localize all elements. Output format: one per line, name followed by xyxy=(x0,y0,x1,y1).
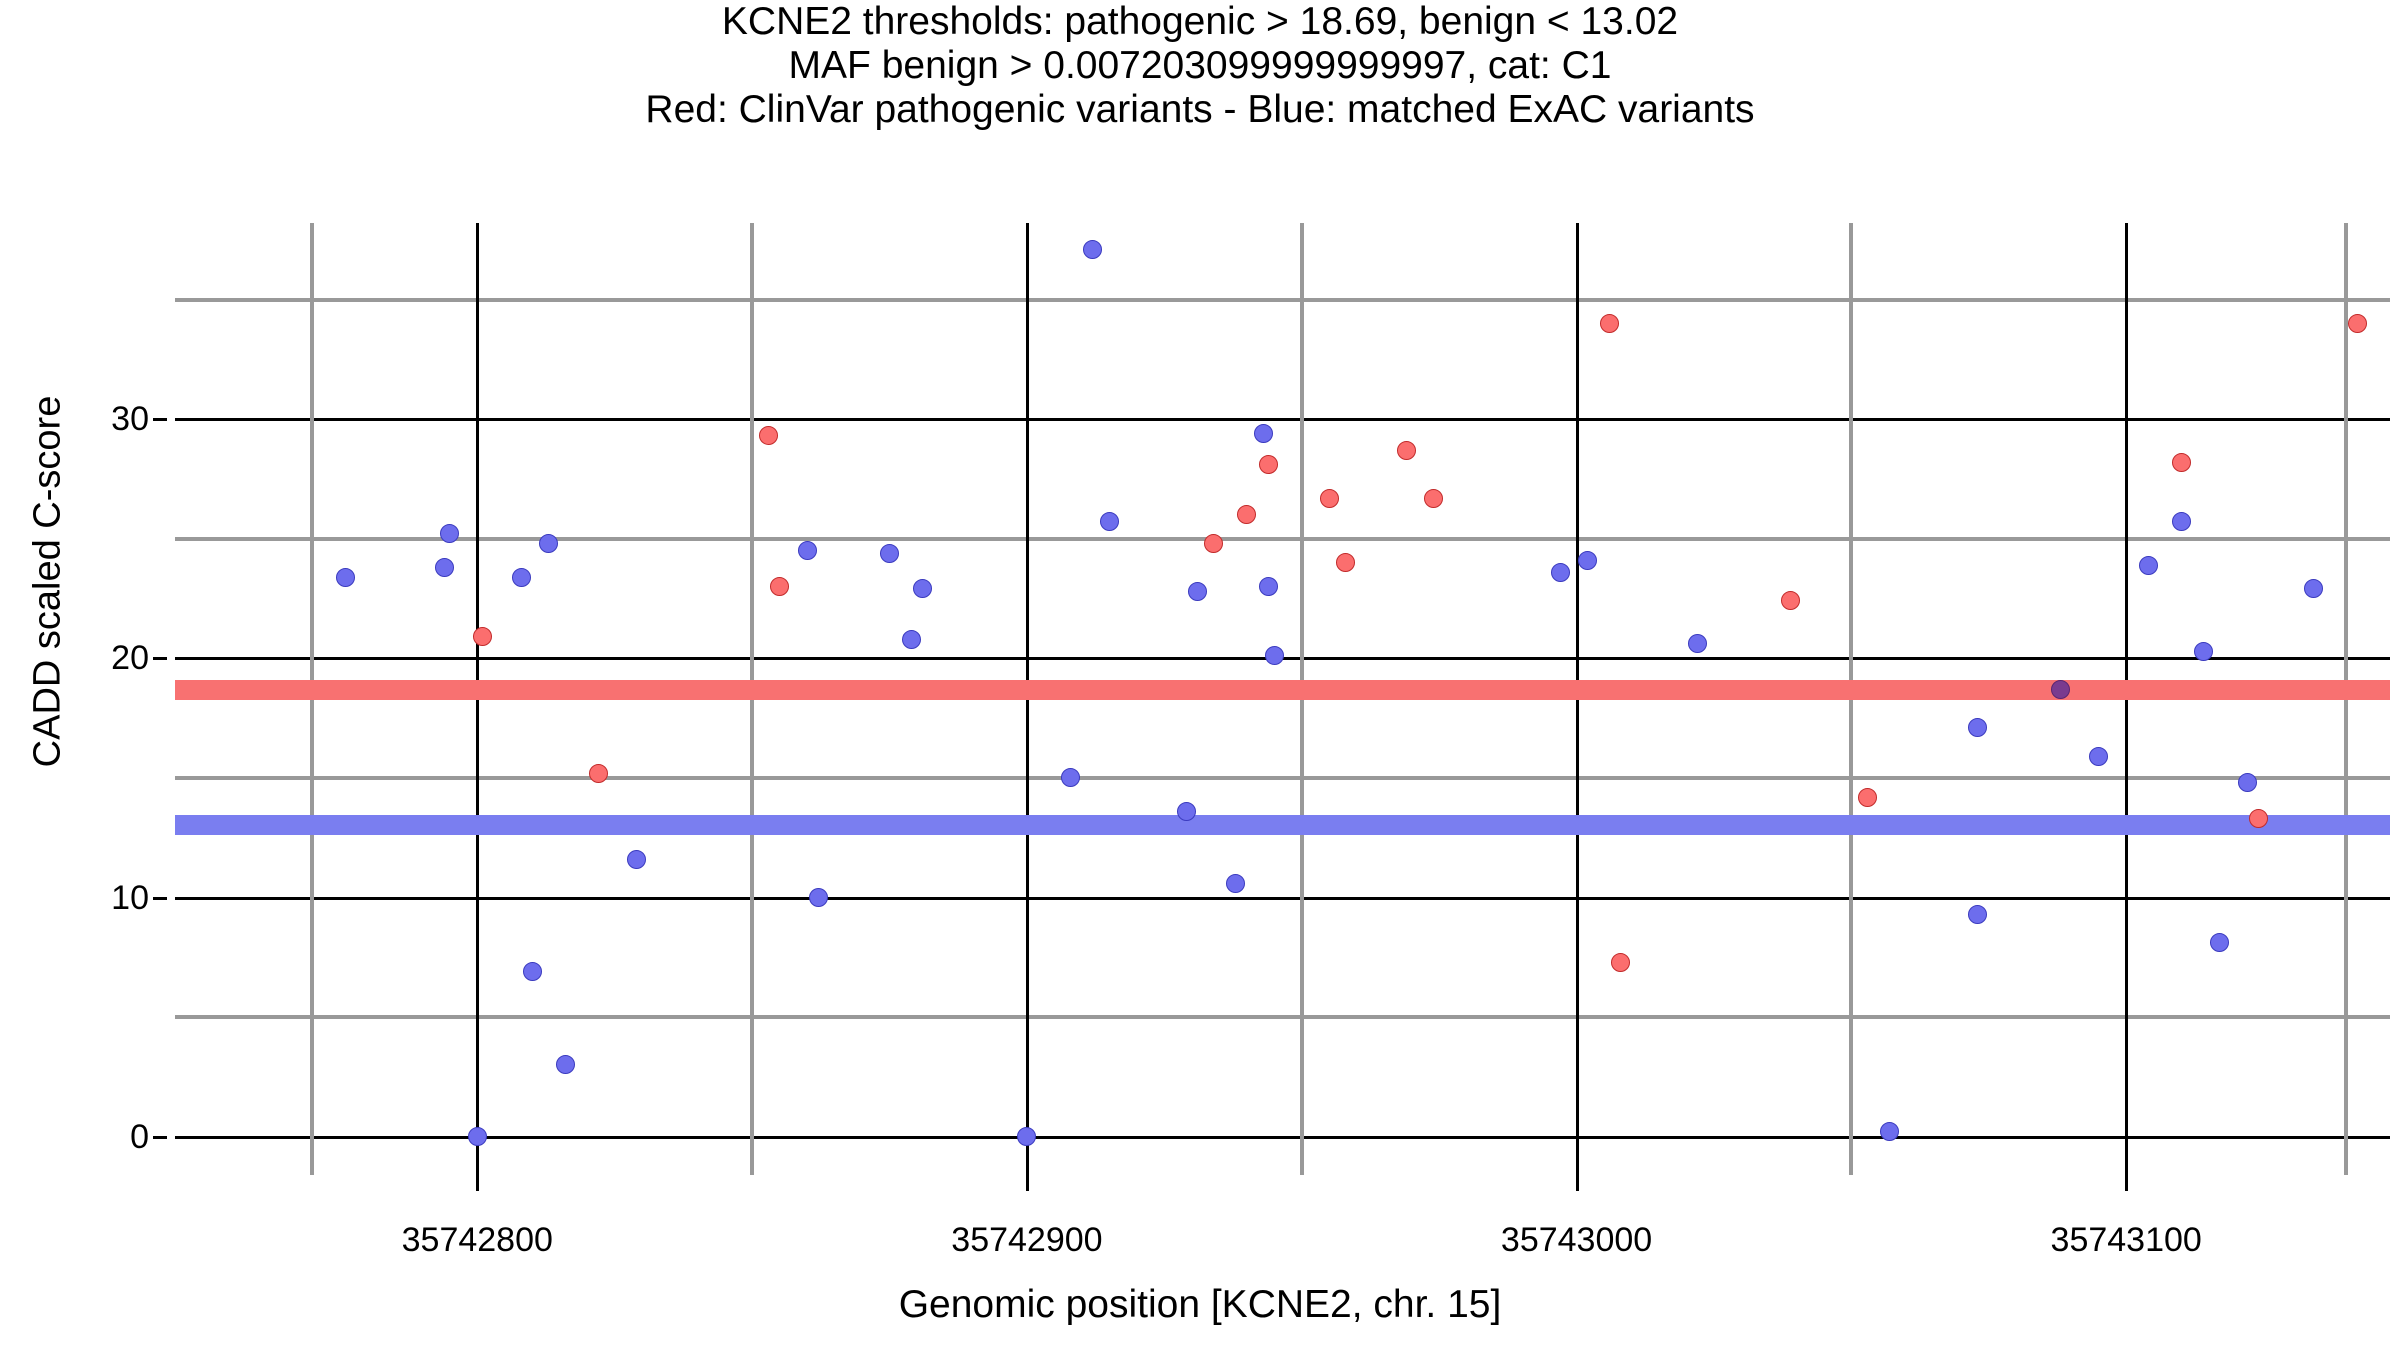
data-point-exac xyxy=(798,541,817,560)
data-point-clinvar-pathogenic xyxy=(770,577,789,596)
data-point-exac xyxy=(539,534,558,553)
x-axis-tick-mark xyxy=(2125,1175,2128,1191)
data-point-exac xyxy=(1017,1127,1036,1146)
y-axis-tick-mark xyxy=(153,897,167,900)
data-point-clinvar-pathogenic xyxy=(1858,788,1877,807)
y-axis-tick-label: 10 xyxy=(111,881,149,915)
data-point-exac xyxy=(1265,646,1284,665)
x-axis-tick-label: 35743100 xyxy=(2051,1223,2202,1257)
gridline-horizontal xyxy=(175,1015,2390,1019)
plot-area xyxy=(175,223,2390,1175)
data-point-exac xyxy=(1100,512,1119,531)
data-point-exac xyxy=(1177,802,1196,821)
data-point-exac xyxy=(2089,747,2108,766)
data-point-clinvar-pathogenic xyxy=(1320,489,1339,508)
gridline-horizontal xyxy=(175,537,2390,541)
x-axis-tick-mark xyxy=(476,1175,479,1191)
chart-title: KCNE2 thresholds: pathogenic > 18.69, be… xyxy=(0,0,2400,132)
data-point-exac xyxy=(336,568,355,587)
data-point-exac xyxy=(1551,563,1570,582)
data-point-clinvar-pathogenic xyxy=(1781,591,1800,610)
data-point-exac xyxy=(913,579,932,598)
data-point-exac xyxy=(2210,933,2229,952)
data-point-exac xyxy=(1061,768,1080,787)
data-point-clinvar-pathogenic xyxy=(1600,314,1619,333)
data-point-exac xyxy=(1968,905,1987,924)
data-point-exac xyxy=(1259,577,1278,596)
data-point-clinvar-pathogenic xyxy=(1204,534,1223,553)
x-axis-tick-label: 35742800 xyxy=(402,1223,553,1257)
y-axis-tick-mark xyxy=(153,657,167,660)
data-point-clinvar-pathogenic xyxy=(1424,489,1443,508)
data-point-exac xyxy=(2051,680,2070,699)
y-axis-tick-mark xyxy=(153,1136,167,1139)
gridline-horizontal-major xyxy=(175,418,2390,421)
chart-title-line-3: Red: ClinVar pathogenic variants - Blue:… xyxy=(0,88,2400,132)
gridline-horizontal xyxy=(175,776,2390,780)
y-axis-tick-label: 0 xyxy=(130,1120,149,1154)
data-point-exac xyxy=(1226,874,1245,893)
y-axis-tick-label: 30 xyxy=(111,402,149,436)
data-point-clinvar-pathogenic xyxy=(473,627,492,646)
data-point-clinvar-pathogenic xyxy=(1336,553,1355,572)
data-point-exac xyxy=(1188,582,1207,601)
data-point-clinvar-pathogenic xyxy=(1397,441,1416,460)
data-point-clinvar-pathogenic xyxy=(589,764,608,783)
data-point-exac xyxy=(2304,579,2323,598)
gridline-horizontal-major xyxy=(175,897,2390,900)
data-point-exac xyxy=(1578,551,1597,570)
data-point-clinvar-pathogenic xyxy=(2348,314,2367,333)
data-point-clinvar-pathogenic xyxy=(1259,455,1278,474)
data-point-clinvar-pathogenic xyxy=(759,426,778,445)
data-point-clinvar-pathogenic xyxy=(1237,505,1256,524)
data-point-exac xyxy=(2194,642,2213,661)
gridline-horizontal-major xyxy=(175,1136,2390,1139)
benign-threshold-line xyxy=(175,815,2390,835)
y-axis-tick-mark xyxy=(153,418,167,421)
data-point-exac xyxy=(2172,512,2191,531)
chart-title-line-1: KCNE2 thresholds: pathogenic > 18.69, be… xyxy=(0,0,2400,44)
chart-title-line-2: MAF benign > 0.007203099999999997, cat: … xyxy=(0,44,2400,88)
data-point-exac xyxy=(627,850,646,869)
data-point-exac xyxy=(1688,634,1707,653)
data-point-exac xyxy=(556,1055,575,1074)
data-point-exac xyxy=(2238,773,2257,792)
data-point-exac xyxy=(468,1127,487,1146)
data-point-exac xyxy=(1083,240,1102,259)
gridline-horizontal xyxy=(175,298,2390,302)
data-point-exac xyxy=(435,558,454,577)
x-axis-title: Genomic position [KCNE2, chr. 15] xyxy=(0,1283,2400,1327)
data-point-exac xyxy=(1968,718,1987,737)
data-point-exac xyxy=(512,568,531,587)
data-point-exac xyxy=(523,962,542,981)
x-axis-tick-label: 35742900 xyxy=(951,1223,1102,1257)
data-point-clinvar-pathogenic xyxy=(2249,809,2268,828)
data-point-exac xyxy=(2139,556,2158,575)
data-point-exac xyxy=(880,544,899,563)
data-point-exac xyxy=(809,888,828,907)
data-point-exac xyxy=(1254,424,1273,443)
x-axis-tick-label: 35743000 xyxy=(1501,1223,1652,1257)
x-axis-labels: Genomic position [KCNE2, chr. 15] 357428… xyxy=(0,1175,2400,1350)
data-point-clinvar-pathogenic xyxy=(1611,953,1630,972)
x-axis-tick-mark xyxy=(1026,1175,1029,1191)
data-point-exac xyxy=(902,630,921,649)
y-axis-title: CADD scaled C-score xyxy=(27,182,70,982)
data-point-clinvar-pathogenic xyxy=(2172,453,2191,472)
x-axis-tick-mark xyxy=(1576,1175,1579,1191)
y-axis-tick-label: 20 xyxy=(111,641,149,675)
chart-root: KCNE2 thresholds: pathogenic > 18.69, be… xyxy=(0,0,2400,1350)
